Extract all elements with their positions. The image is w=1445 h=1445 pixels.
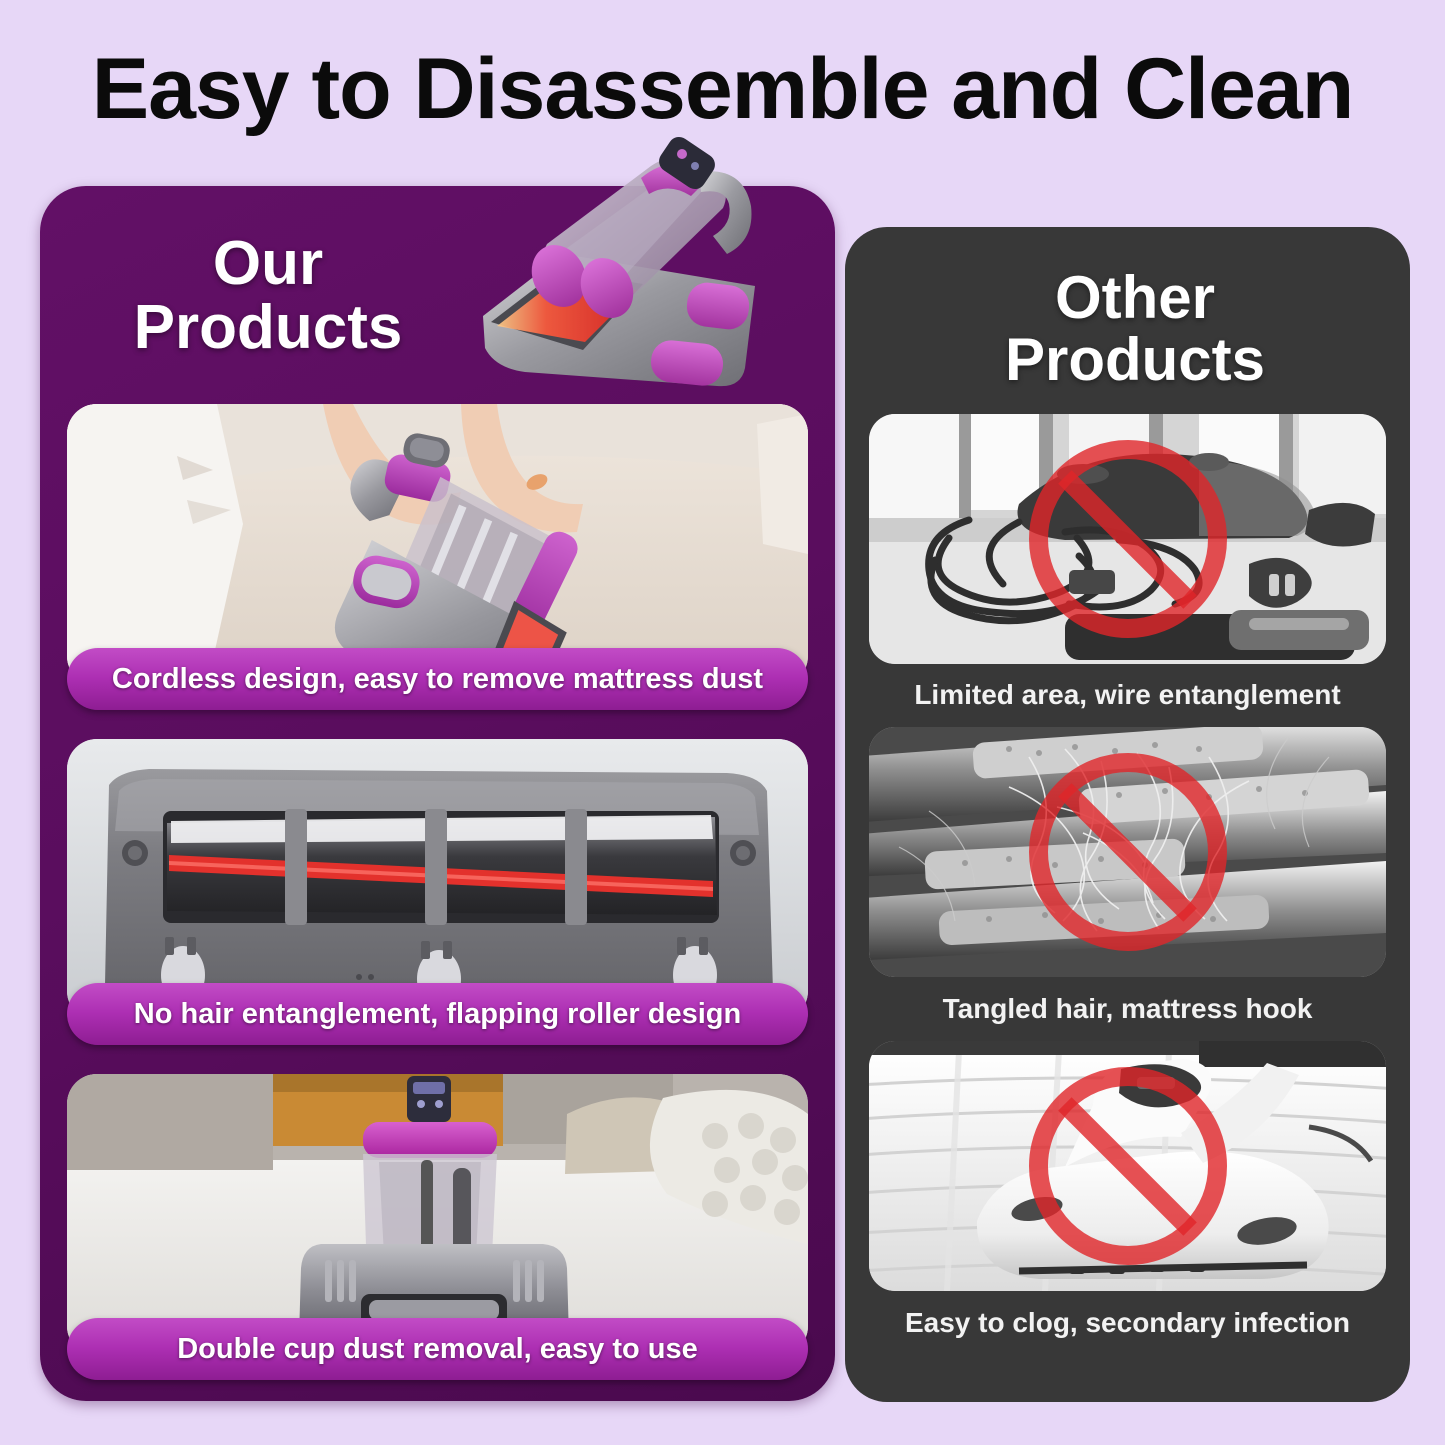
our-product-photo-2 xyxy=(67,739,808,1021)
our-product-card-1 xyxy=(67,404,808,686)
other-product-caption-2: Tangled hair, mattress hook xyxy=(855,993,1400,1025)
other-product-card-3 xyxy=(869,1041,1386,1291)
page-title: Easy to Disassemble and Clean xyxy=(0,40,1445,139)
other-product-card-1 xyxy=(869,414,1386,664)
our-products-panel: Our Products xyxy=(40,186,835,1401)
our-product-caption-3: Double cup dust removal, easy to use xyxy=(67,1318,808,1380)
prohibition-icon xyxy=(1029,753,1227,951)
our-products-heading-line1: Our xyxy=(88,232,448,296)
other-products-heading-line1: Other xyxy=(950,267,1320,329)
other-products-heading-line2: Products xyxy=(950,329,1320,391)
our-product-card-3 xyxy=(67,1074,808,1356)
our-products-heading-line2: Products xyxy=(88,296,448,360)
our-product-photo-3 xyxy=(67,1074,808,1356)
our-product-caption-2: No hair entanglement, flapping roller de… xyxy=(67,983,808,1045)
our-product-caption-1: Cordless design, easy to remove mattress… xyxy=(67,648,808,710)
our-product-photo-1 xyxy=(67,404,808,686)
other-products-heading: Other Products xyxy=(950,267,1320,392)
prohibition-icon xyxy=(1029,440,1227,638)
other-product-caption-1: Limited area, wire entanglement xyxy=(855,679,1400,711)
our-products-heading: Our Products xyxy=(88,232,448,361)
other-product-caption-3: Easy to clog, secondary infection xyxy=(855,1307,1400,1339)
our-product-card-2 xyxy=(67,739,808,1021)
hero-product-image xyxy=(455,136,785,401)
prohibition-icon xyxy=(1029,1067,1227,1265)
other-products-panel: Other Products xyxy=(845,227,1410,1402)
other-product-card-2 xyxy=(869,727,1386,977)
